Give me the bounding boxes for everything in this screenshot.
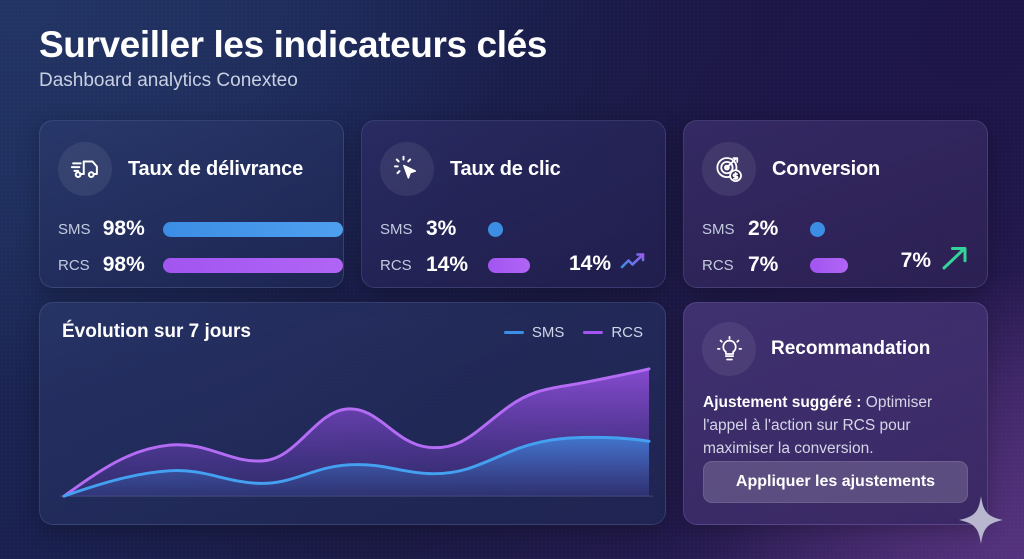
delivery-truck-icon [58,142,112,196]
kpi-row-value: 7% [748,253,810,277]
kpi-header: Conversion [684,121,987,196]
kpi-progress-bar [163,222,343,237]
legend-label: SMS [532,324,565,341]
kpi-row-label: RCS [702,257,748,274]
legend-swatch-rcs [583,331,603,334]
kpi-row-sms: SMS 3% [380,214,665,244]
kpi-card-delivery[interactable]: Taux de délivrance SMS 98% RCS 98% [39,120,344,288]
kpi-header: Taux de délivrance [40,121,343,196]
kpi-trend: 7% [901,244,970,277]
kpi-metric-list: SMS 2% RCS 7% 7% [684,196,987,280]
chart-header: Évolution sur 7 jours SMS RCS [40,303,665,343]
kpi-progress-dot [810,222,825,237]
chart-legend: SMS RCS [504,324,643,341]
kpi-row-label: RCS [380,257,426,274]
kpi-row-value: 2% [748,217,810,241]
kpi-progress-bar [163,258,343,273]
kpi-row-label: SMS [380,221,426,238]
page-subtitle: Dashboard analytics Conexteo [39,70,547,92]
legend-item-rcs[interactable]: RCS [583,324,643,341]
trending-up-icon [620,250,648,277]
sparkle-icon [958,495,1004,550]
arrow-up-right-icon [940,244,970,277]
kpi-card-click-rate[interactable]: Taux de clic SMS 3% RCS 14% 14% [361,120,666,288]
kpi-row-sms: SMS 98% [58,214,343,244]
evolution-chart-card[interactable]: Évolution sur 7 jours SMS RCS [39,302,666,525]
kpi-row-label: SMS [58,221,103,238]
kpi-row-value: 98% [103,253,163,277]
page-title: Surveiller les indicateurs clés [39,24,547,65]
legend-label: RCS [611,324,643,341]
kpi-row-rcs: RCS 98% [58,250,343,280]
kpi-trend: 14% [569,250,648,277]
kpi-row-label: RCS [58,257,103,274]
recommendation-body-highlight: Ajustement suggéré : [703,394,861,411]
kpi-progress-dot [488,222,503,237]
kpi-row-sms: SMS 2% [702,214,987,244]
chart-plot-area [60,363,653,502]
dashboard-canvas: Surveiller les indicateurs clés Dashboar… [0,0,1024,559]
page-header: Surveiller les indicateurs clés Dashboar… [39,24,547,92]
kpi-title: Conversion [772,158,880,181]
kpi-trend-value: 7% [901,249,931,273]
chart-title: Évolution sur 7 jours [62,321,251,343]
recommendation-body: Ajustement suggéré : Optimiser l'appel à… [684,376,987,460]
kpi-row-value: 3% [426,217,488,241]
kpi-metric-list: SMS 98% RCS 98% [40,196,343,280]
legend-swatch-sms [504,331,524,334]
kpi-title: Taux de délivrance [128,158,303,181]
legend-item-sms[interactable]: SMS [504,324,565,341]
click-cursor-icon [380,142,434,196]
kpi-header: Taux de clic [362,121,665,196]
recommendation-header: Recommandation [684,303,987,376]
chart-svg [60,363,653,502]
kpi-title: Taux de clic [450,158,561,181]
recommendation-title: Recommandation [771,338,930,360]
kpi-row-value: 98% [103,217,163,241]
recommendation-card[interactable]: Recommandation Ajustement suggéré : Opti… [683,302,988,525]
lightbulb-icon [702,322,756,376]
target-money-icon [702,142,756,196]
kpi-row-label: SMS [702,221,748,238]
kpi-progress-bar [488,258,530,273]
kpi-trend-value: 14% [569,252,611,276]
kpi-card-conversion[interactable]: Conversion SMS 2% RCS 7% 7% [683,120,988,288]
kpi-metric-list: SMS 3% RCS 14% 14% [362,196,665,280]
apply-adjustments-button[interactable]: Appliquer les ajustements [703,461,968,503]
kpi-progress-bar [810,258,848,273]
kpi-row-value: 14% [426,253,488,277]
